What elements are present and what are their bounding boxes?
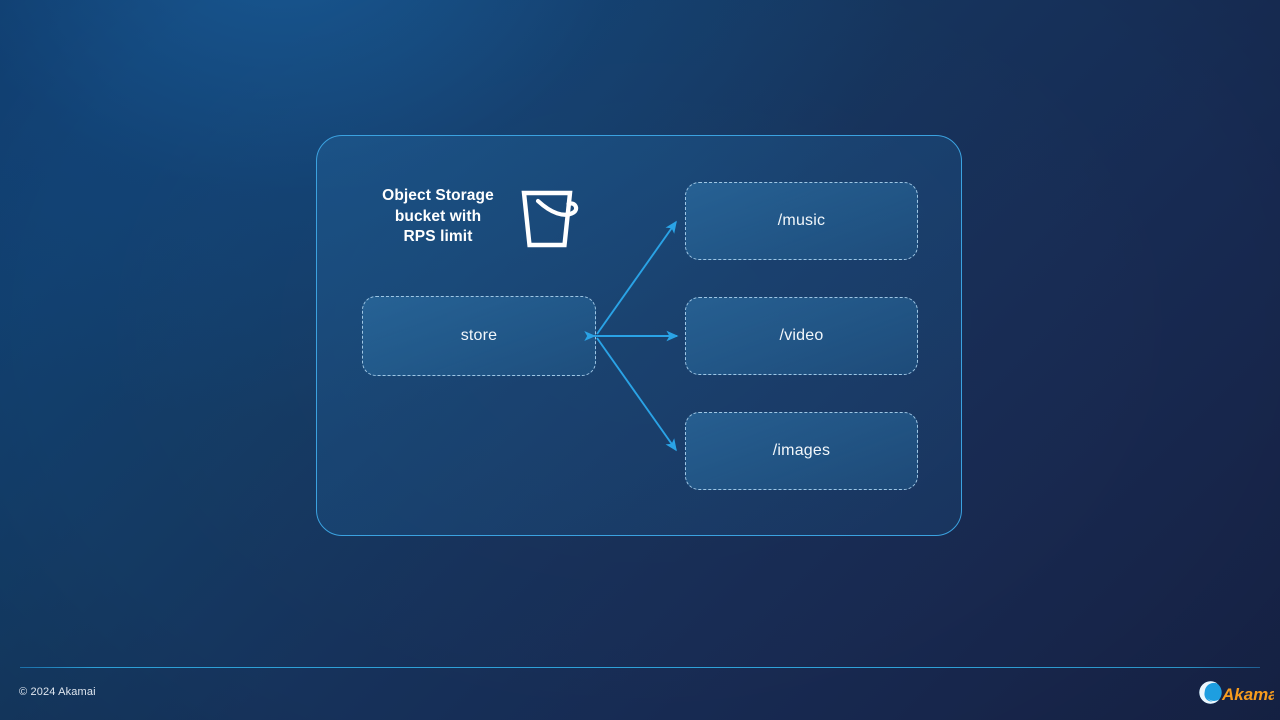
video-box-label: /video	[780, 327, 824, 345]
store-box[interactable]: store	[362, 296, 596, 376]
bucket-icon	[518, 185, 584, 253]
akamai-wordmark: Akamai	[1221, 685, 1274, 704]
copyright-text: © 2024 Akamai	[19, 686, 96, 698]
images-box-label: /images	[773, 442, 830, 460]
akamai-swirl-icon	[1199, 681, 1221, 703]
music-box-label: /music	[778, 212, 825, 230]
slide-canvas: Object Storage bucket with RPS limit sto…	[0, 0, 1280, 720]
video-box[interactable]: /video	[685, 297, 918, 375]
store-box-label: store	[461, 327, 498, 345]
akamai-logo: Akamai	[1196, 678, 1274, 708]
images-box[interactable]: /images	[685, 412, 918, 490]
footer-divider	[20, 667, 1260, 668]
music-box[interactable]: /music	[685, 182, 918, 260]
panel-heading: Object Storage bucket with RPS limit	[360, 186, 516, 248]
